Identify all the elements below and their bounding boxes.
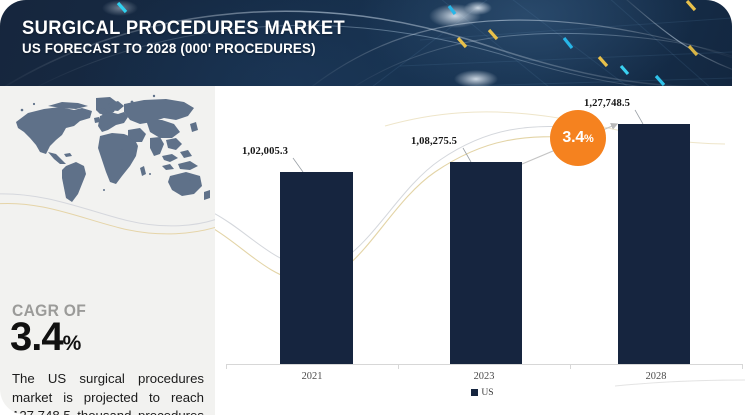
sidebar-panel: CAGR OF 3.4% The US surgical procedures … <box>0 86 215 415</box>
plot-area: 1,02,005.3 1,08,275.5 1,27,748.5 2021 20… <box>215 86 750 415</box>
cagr-badge[interactable]: 3.4% <box>550 110 606 166</box>
axis-tick <box>226 364 227 369</box>
page-title: SURGICAL PROCEDURES MARKET <box>22 18 345 39</box>
header-text-block: SURGICAL PROCEDURES MARKET US FORECAST T… <box>22 18 366 58</box>
chart-legend: US <box>215 387 750 398</box>
market-description: The US surgical procedures market is pro… <box>12 370 204 415</box>
bar-label-2023: 1,08,275.5 <box>411 136 457 147</box>
x-axis-label-2021: 2021 <box>252 371 372 382</box>
cagr-number: 3.4 <box>10 315 63 359</box>
x-axis-label-2023: 2023 <box>424 371 544 382</box>
x-axis-label-2028: 2028 <box>596 371 716 382</box>
axis-tick <box>570 364 571 369</box>
bar-2028[interactable] <box>618 124 690 364</box>
cagr-value: 3.4% <box>10 317 81 357</box>
bar-2021[interactable] <box>280 172 353 364</box>
header-banner: SURGICAL PROCEDURES MARKET US FORECAST T… <box>0 0 732 86</box>
cagr-badge-value: 3.4 <box>562 129 584 146</box>
sidebar-decorative-waves <box>0 182 215 252</box>
cagr-badge-unit: % <box>584 133 594 145</box>
x-axis-line <box>226 364 742 365</box>
bar-2023[interactable] <box>450 162 522 364</box>
page-subtitle: US FORECAST TO 2028 (000' PROCEDURES) <box>22 42 345 58</box>
legend-swatch-us <box>471 389 478 396</box>
chart-panel: 1,02,005.3 1,08,275.5 1,27,748.5 2021 20… <box>215 86 750 415</box>
cagr-badge-text: 3.4% <box>562 129 593 147</box>
cagr-percent-sign: % <box>63 332 82 355</box>
bar-label-2028: 1,27,748.5 <box>584 98 630 109</box>
bar-label-2021: 1,02,005.3 <box>242 146 288 157</box>
axis-tick <box>742 364 743 369</box>
legend-label-us: US <box>481 387 493 398</box>
axis-tick <box>398 364 399 369</box>
